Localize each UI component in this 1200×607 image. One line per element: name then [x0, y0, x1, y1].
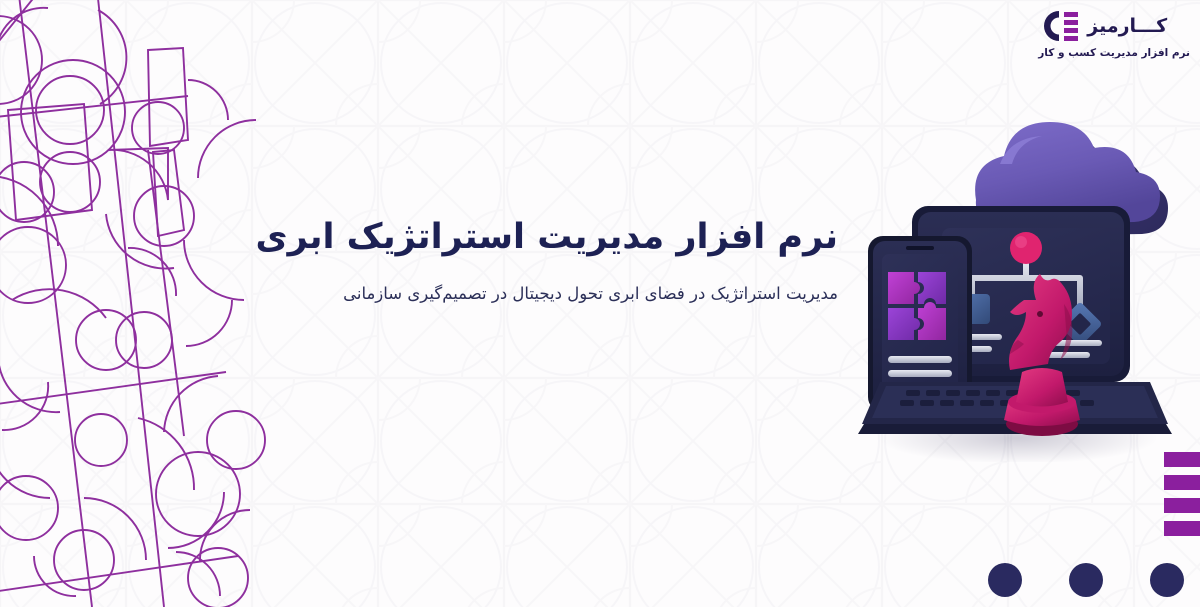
deco-bar-4 — [1164, 521, 1200, 536]
hero-text-block: نرم افزار مدیریت استراتژیک ابری مدیریت ا… — [360, 214, 838, 307]
deco-dot-1 — [988, 563, 1022, 597]
deco-dot-2 — [1069, 563, 1103, 597]
hero-subtitle: مدیریت استراتژیک در فضای ابری تحول دیجیت… — [360, 282, 838, 307]
decoration-dots — [988, 563, 1184, 597]
brand-logo[interactable]: کـــارمیز نرم افزار مدیریت کسب و کار — [1038, 8, 1192, 59]
deco-dot-3 — [1150, 563, 1184, 597]
logo-primary-row: کـــارمیز — [1038, 8, 1167, 44]
deco-bar-1 — [1164, 452, 1200, 467]
c-arc-logo-icon — [1038, 8, 1080, 44]
decoration-bars — [1164, 452, 1200, 536]
logo-wordmark: کـــارمیز — [1087, 17, 1167, 36]
deco-bar-3 — [1164, 498, 1200, 513]
left-geometric-pattern — [0, 0, 298, 607]
deco-bar-2 — [1164, 475, 1200, 490]
logo-tagline: نرم افزار مدیریت کسب و کار — [1038, 47, 1190, 59]
cloud-laptop-chess-illustration — [850, 72, 1180, 462]
page-title: نرم افزار مدیریت استراتژیک ابری — [360, 214, 838, 260]
flowchart-node-circle-icon — [1010, 232, 1042, 264]
hero-banner: کـــارمیز نرم افزار مدیریت کسب و کار نرم… — [0, 0, 1200, 607]
